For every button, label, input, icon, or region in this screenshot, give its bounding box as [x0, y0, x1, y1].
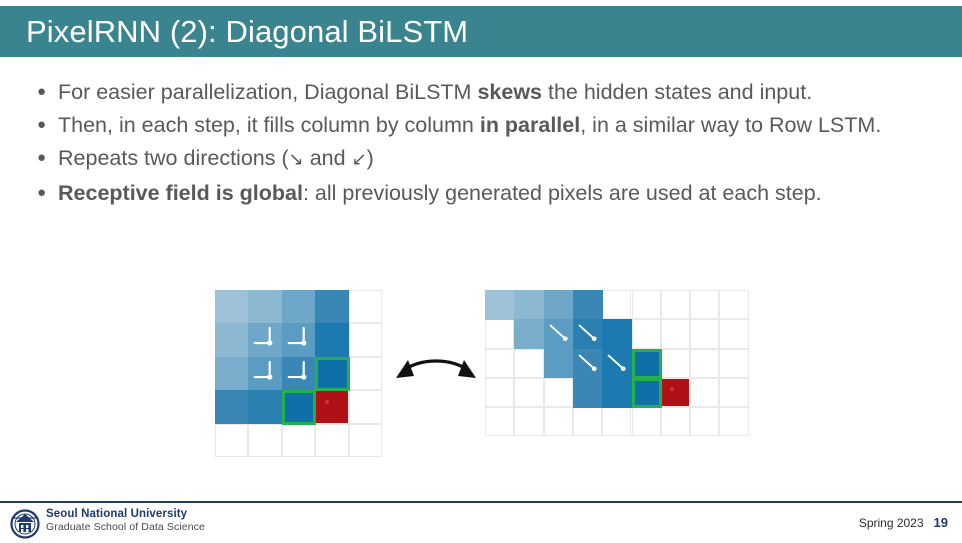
current-pixel-dot-icon [670, 387, 674, 391]
dependency-diagonal-arrow-icon [573, 319, 602, 348]
grid-cell [544, 378, 573, 407]
bullet-list: ●For easier parallelization, Diagonal Bi… [28, 76, 938, 210]
bullet-text: Then, in each step, it fills column by c… [58, 109, 938, 141]
grid-cell-filled [485, 290, 515, 320]
grid-cell-filled [248, 390, 282, 424]
grid-cell-filled [602, 378, 632, 408]
grid-cell [632, 319, 661, 348]
dependency-l-arrow-icon [248, 357, 281, 390]
grid-cell [690, 290, 719, 319]
grid-cell [690, 407, 719, 436]
context-highlight-box [632, 349, 662, 379]
page-title: PixelRNN (2): Diagonal BiLSTM [0, 16, 468, 47]
grid-cell [514, 407, 543, 436]
grid-cell [661, 349, 690, 378]
university-name: Seoul National University [46, 508, 205, 521]
grid-cell [315, 424, 348, 457]
grid-cell [719, 290, 748, 319]
grid-cell [349, 290, 382, 323]
grid-cell-filled [573, 378, 603, 408]
bullet-text: For easier parallelization, Diagonal BiL… [58, 76, 938, 108]
grid-cell [661, 290, 690, 319]
bullet-marker-icon: ● [28, 76, 58, 108]
grid-cell [632, 290, 661, 319]
term-label: Spring 2023 [859, 516, 924, 530]
grid-cell [514, 378, 543, 407]
grid-cell [690, 319, 719, 348]
slide-header: PixelRNN (2): Diagonal BiLSTM [0, 6, 962, 57]
bullet-item: ●For easier parallelization, Diagonal Bi… [28, 76, 938, 108]
grid-cell-filled [215, 323, 249, 357]
grid-cell-filled [514, 319, 544, 349]
grid-cell [485, 349, 514, 378]
grid-cell [349, 323, 382, 356]
grid-cell [485, 407, 514, 436]
grid-cell-filled [315, 323, 349, 357]
grid-cell [602, 290, 631, 319]
grid-cell [349, 424, 382, 457]
grid-cell-filled [215, 390, 249, 424]
current-pixel-cell [662, 379, 689, 406]
context-highlight-box [282, 390, 316, 424]
grid-cell-filled [282, 290, 316, 324]
grid-cell [719, 378, 748, 407]
figure-area [0, 270, 962, 470]
grid-cell-filled [573, 290, 603, 320]
grid-cell-filled [602, 319, 632, 349]
dependency-l-arrow-icon [248, 323, 281, 356]
bullet-item: ●Repeats two directions (↘ and ↙) [28, 142, 938, 176]
grid-cell [349, 357, 382, 390]
context-highlight-box [632, 378, 662, 408]
grid-cell [215, 424, 248, 457]
grid-cell-filled [315, 290, 349, 324]
grid-cell-filled [544, 349, 574, 379]
bullet-text: Receptive field is global: all previousl… [58, 177, 938, 209]
double-arrow-icon [392, 352, 480, 392]
dependency-l-arrow-icon [282, 323, 315, 356]
grid-cell [602, 407, 631, 436]
context-highlight-box [315, 357, 349, 391]
grid-cell [719, 319, 748, 348]
grid-cell [514, 349, 543, 378]
footer-institution: Seoul National University Graduate Schoo… [46, 508, 205, 533]
slide: PixelRNN (2): Diagonal BiLSTM ●For easie… [0, 0, 962, 543]
bullet-marker-icon: ● [28, 177, 58, 209]
dependency-diagonal-arrow-icon [544, 319, 573, 348]
school-name: Graduate School of Data Science [46, 521, 205, 533]
grid-cell [661, 407, 690, 436]
bullet-marker-icon: ● [28, 109, 58, 141]
dependency-diagonal-arrow-icon [602, 349, 631, 378]
page-number: 19 [934, 515, 948, 530]
dependency-diagonal-arrow-icon [573, 349, 602, 378]
grid-cell [282, 424, 315, 457]
bullet-item: ●Then, in each step, it fills column by … [28, 109, 938, 141]
skewed-grid-figure [485, 290, 749, 437]
grid-cell [690, 349, 719, 378]
grid-cell-filled [544, 290, 574, 320]
bullet-text: Repeats two directions (↘ and ↙) [58, 142, 938, 176]
grid-cell [719, 349, 748, 378]
grid-cell-filled [514, 290, 544, 320]
grid-cell [544, 407, 573, 436]
grid-cell [632, 407, 661, 436]
grid-cell-filled [248, 290, 282, 324]
grid-cell [248, 424, 281, 457]
footer-meta: Spring 2023 19 [859, 515, 948, 530]
grid-cell-filled [215, 357, 249, 391]
slide-footer: Seoul National University Graduate Schoo… [0, 503, 962, 543]
unskewed-grid-figure [215, 290, 382, 457]
bullet-item: ●Receptive field is global: all previous… [28, 177, 938, 209]
grid-cell [485, 378, 514, 407]
dependency-l-arrow-icon [282, 357, 315, 390]
grid-cell-filled [215, 290, 249, 324]
grid-cell [485, 319, 514, 348]
grid-cell [349, 390, 382, 423]
grid-cell [719, 407, 748, 436]
bullet-marker-icon: ● [28, 142, 58, 174]
grid-cell [661, 319, 690, 348]
grid-cell [690, 378, 719, 407]
current-pixel-cell [316, 391, 347, 422]
snu-logo-icon [10, 509, 40, 539]
grid-cell [573, 407, 602, 436]
